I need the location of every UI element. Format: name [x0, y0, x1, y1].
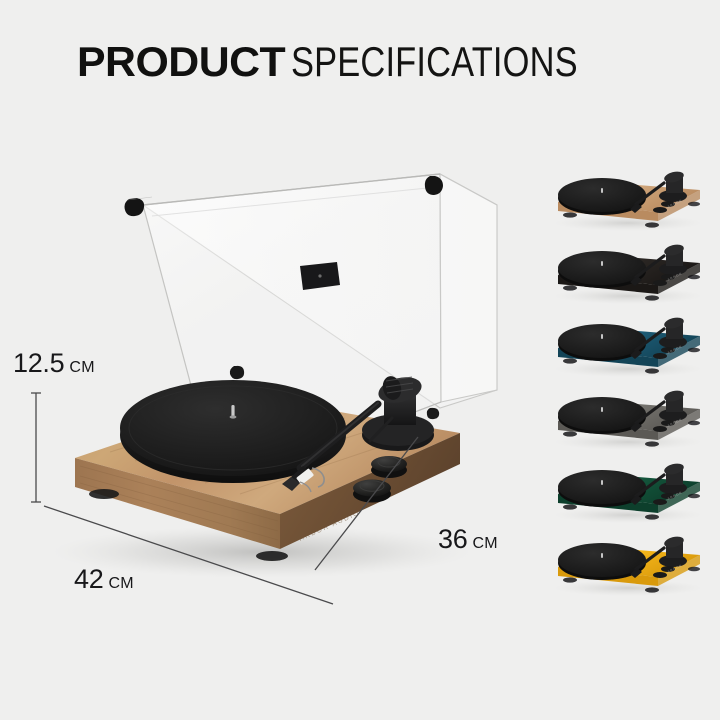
dimension-label-height: 12.5CM: [13, 348, 95, 379]
dimension-label-width: 42CM: [74, 564, 134, 595]
product-specification-sheet: PRODUCTSPECIFICATIONS: [0, 0, 720, 720]
hinge-left-icon: [125, 198, 145, 216]
knob-power[interactable]: [353, 480, 391, 497]
spindle: [231, 405, 234, 417]
variant-thumbnail[interactable]: ARBOR: [540, 233, 720, 309]
dimension-label-depth: 36CM: [438, 524, 498, 555]
dimension-width-unit: CM: [108, 575, 133, 592]
dimension-height-unit: CM: [69, 359, 94, 376]
dimension-depth-value: 36: [438, 524, 467, 554]
variant-thumbnail[interactable]: ARBOR: [540, 452, 720, 528]
dimension-height-value: 12.5: [13, 348, 64, 378]
dimension-depth-unit: CM: [472, 535, 497, 552]
variant-thumbnail[interactable]: ARBOR: [540, 306, 720, 382]
variant-thumbnail[interactable]: ARBOR: [540, 379, 720, 455]
dimension-width-value: 42: [74, 564, 103, 594]
variant-thumbnail[interactable]: ARBOR: [540, 160, 720, 236]
variant-thumbnail[interactable]: ARBOR: [540, 525, 720, 601]
color-variant-list: ARBORARBORARBORARBORARBORARBOR: [540, 160, 720, 600]
hinge-right-icon: [425, 176, 443, 195]
